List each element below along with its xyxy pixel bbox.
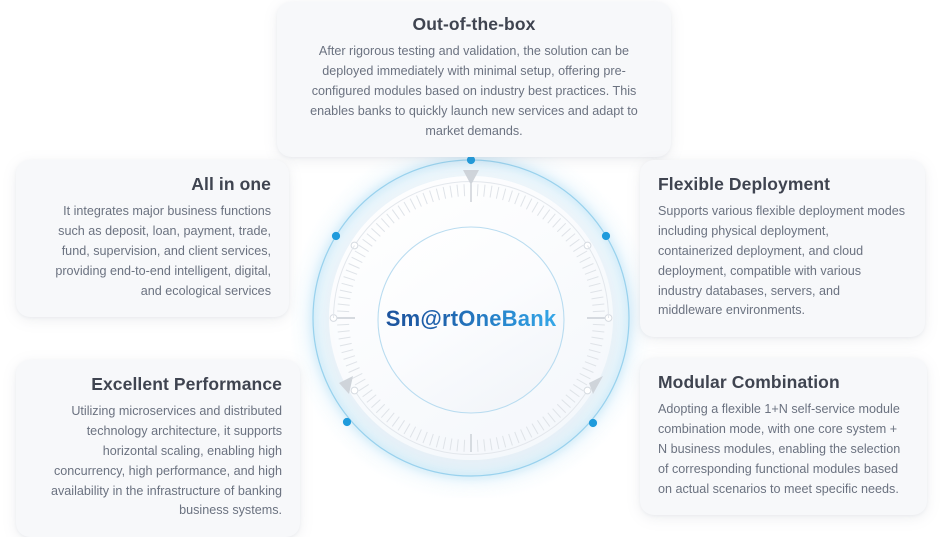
central-circular-graphic (291, 138, 651, 498)
tick-mark (337, 324, 349, 325)
card-body-flexible-deployment: Supports various flexible deployment mod… (658, 202, 907, 321)
card-out-of-the-box[interactable]: Out-of-the-box After rigorous testing an… (277, 2, 671, 157)
tick-mark (593, 324, 605, 325)
circular-diagram-svg (291, 138, 651, 498)
tick-mark (464, 184, 465, 196)
card-excellent-performance[interactable]: Excellent Performance Utilizing microser… (16, 360, 300, 537)
card-title-all-in-one: All in one (34, 174, 271, 195)
tick-mark (593, 311, 605, 312)
card-title-modular-combination: Modular Combination (658, 372, 909, 393)
tick-mark (337, 311, 349, 312)
tick-mark (464, 440, 465, 452)
card-all-in-one[interactable]: All in one It integrates major business … (16, 160, 289, 317)
tick-mark (477, 440, 478, 452)
card-flexible-deployment[interactable]: Flexible Deployment Supports various fle… (640, 160, 925, 337)
card-body-all-in-one: It integrates major business functions s… (34, 202, 271, 301)
card-title-out-of-the-box: Out-of-the-box (295, 14, 653, 35)
ring-dot-lower-right (589, 419, 597, 427)
infographic-stage: Sm@rtOneBank Out-of-the-box After rigoro… (0, 0, 941, 500)
tick-mark (477, 184, 478, 196)
card-title-flexible-deployment: Flexible Deployment (658, 174, 907, 195)
arc-endpoint-bottom-left (351, 387, 358, 394)
arc-endpoint-bottom-right (584, 387, 591, 394)
inner-circle (378, 227, 564, 413)
card-modular-combination[interactable]: Modular Combination Adopting a flexible … (640, 358, 927, 515)
ring-dot-upper-right (602, 232, 610, 240)
ring-dot-top (467, 156, 475, 164)
ring-dot-upper-left (332, 232, 340, 240)
card-body-out-of-the-box: After rigorous testing and validation, t… (295, 42, 653, 141)
card-body-excellent-performance: Utilizing microservices and distributed … (34, 402, 282, 521)
card-title-excellent-performance: Excellent Performance (34, 374, 282, 395)
ring-dot-lower-left (343, 418, 351, 426)
card-body-modular-combination: Adopting a flexible 1+N self-service mod… (658, 400, 909, 499)
